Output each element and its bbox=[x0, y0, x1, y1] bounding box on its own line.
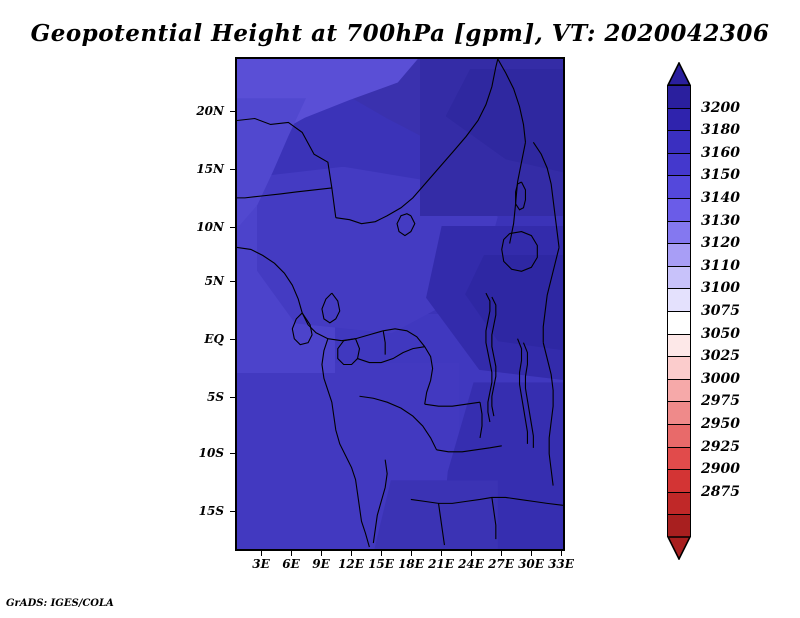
x-tick-21E bbox=[441, 551, 442, 556]
colorbar-band-14 bbox=[668, 402, 690, 425]
colorbar-label-3130: 3130 bbox=[701, 213, 740, 229]
coastline-and-border-overlay bbox=[237, 59, 563, 549]
x-axis-label-15E: 15E bbox=[368, 557, 394, 571]
y-axis-label-5S: 5S bbox=[176, 390, 224, 404]
x-tick-24E bbox=[471, 551, 472, 556]
y-tick-20N bbox=[230, 111, 235, 112]
colorbar-extend-max-arrow-icon bbox=[667, 62, 691, 86]
attribution-footer: GrADS: IGES/COLA bbox=[6, 598, 114, 609]
colorbar-band-0 bbox=[668, 86, 690, 109]
colorbar-band-19 bbox=[668, 515, 690, 538]
y-axis-label-20N: 20N bbox=[176, 104, 224, 118]
colorbar-band-4 bbox=[668, 176, 690, 199]
x-tick-30E bbox=[531, 551, 532, 556]
colorbar-band-12 bbox=[668, 357, 690, 380]
x-axis-label-3E: 3E bbox=[252, 557, 270, 571]
y-tick-5N bbox=[230, 281, 235, 282]
colorbar-label-3000: 3000 bbox=[701, 371, 740, 387]
colorbar-label-3160: 3160 bbox=[701, 145, 740, 161]
x-tick-27E bbox=[501, 551, 502, 556]
colorbar-band-7 bbox=[668, 244, 690, 267]
colorbar-label-3120: 3120 bbox=[701, 235, 740, 251]
colorbar-label-2875: 2875 bbox=[701, 484, 740, 500]
x-axis-label-21E: 21E bbox=[428, 557, 454, 571]
x-axis-label-9E: 9E bbox=[312, 557, 330, 571]
x-tick-6E bbox=[291, 551, 292, 556]
colorbar-label-3140: 3140 bbox=[701, 190, 740, 206]
x-axis-label-6E: 6E bbox=[282, 557, 300, 571]
colorbar-label-3050: 3050 bbox=[701, 326, 740, 342]
colorbar-bands bbox=[667, 85, 691, 537]
colorbar-band-13 bbox=[668, 380, 690, 403]
colorbar-band-5 bbox=[668, 199, 690, 222]
x-tick-18E bbox=[411, 551, 412, 556]
y-axis-label-15S: 15S bbox=[176, 504, 224, 518]
y-axis-label-15N: 15N bbox=[176, 162, 224, 176]
colorbar-extend-min-arrow-icon bbox=[667, 536, 691, 560]
colorbar-band-11 bbox=[668, 335, 690, 358]
colorbar-label-2950: 2950 bbox=[701, 416, 740, 432]
colorbar-band-1 bbox=[668, 109, 690, 132]
x-axis-label-12E: 12E bbox=[338, 557, 364, 571]
colorbar-label-3150: 3150 bbox=[701, 167, 740, 183]
y-axis-label-EQ: EQ bbox=[176, 332, 224, 346]
colorbar-band-18 bbox=[668, 493, 690, 516]
y-tick-EQ bbox=[230, 339, 235, 340]
y-tick-5S bbox=[230, 397, 235, 398]
y-tick-10S bbox=[230, 453, 235, 454]
colorbar-label-2925: 2925 bbox=[701, 439, 740, 455]
x-tick-15E bbox=[381, 551, 382, 556]
colorbar: 3200 3180 3160 3150 3140 3130 3120 3110 … bbox=[667, 62, 691, 560]
colorbar-label-3025: 3025 bbox=[701, 348, 740, 364]
colorbar-band-16 bbox=[668, 448, 690, 471]
y-tick-10N bbox=[230, 227, 235, 228]
colorbar-label-2900: 2900 bbox=[701, 461, 740, 477]
colorbar-band-2 bbox=[668, 131, 690, 154]
colorbar-band-8 bbox=[668, 267, 690, 290]
colorbar-band-17 bbox=[668, 470, 690, 493]
x-axis-label-18E: 18E bbox=[398, 557, 424, 571]
x-tick-3E bbox=[261, 551, 262, 556]
colorbar-band-3 bbox=[668, 154, 690, 177]
colorbar-band-6 bbox=[668, 222, 690, 245]
colorbar-label-2975: 2975 bbox=[701, 393, 740, 409]
x-axis-label-30E: 30E bbox=[518, 557, 544, 571]
x-axis-label-33E: 33E bbox=[548, 557, 574, 571]
y-tick-15N bbox=[230, 169, 235, 170]
y-axis-label-10S: 10S bbox=[176, 446, 224, 460]
colorbar-band-15 bbox=[668, 425, 690, 448]
y-axis-label-5N: 5N bbox=[176, 274, 224, 288]
colorbar-label-3075: 3075 bbox=[701, 303, 740, 319]
colorbar-band-9 bbox=[668, 289, 690, 312]
x-axis-label-24E: 24E bbox=[458, 557, 484, 571]
x-axis-label-27E: 27E bbox=[488, 557, 514, 571]
x-tick-9E bbox=[321, 551, 322, 556]
x-tick-33E bbox=[561, 551, 562, 556]
page-title: Geopotential Height at 700hPa [gpm], VT:… bbox=[0, 20, 800, 47]
colorbar-band-10 bbox=[668, 312, 690, 335]
colorbar-label-3180: 3180 bbox=[701, 122, 740, 138]
colorbar-label-3200: 3200 bbox=[701, 100, 740, 116]
colorbar-label-3100: 3100 bbox=[701, 280, 740, 296]
map-plot-area bbox=[235, 57, 565, 551]
colorbar-label-3110: 3110 bbox=[701, 258, 740, 274]
x-tick-12E bbox=[351, 551, 352, 556]
y-axis-label-10N: 10N bbox=[176, 220, 224, 234]
y-tick-15S bbox=[230, 511, 235, 512]
